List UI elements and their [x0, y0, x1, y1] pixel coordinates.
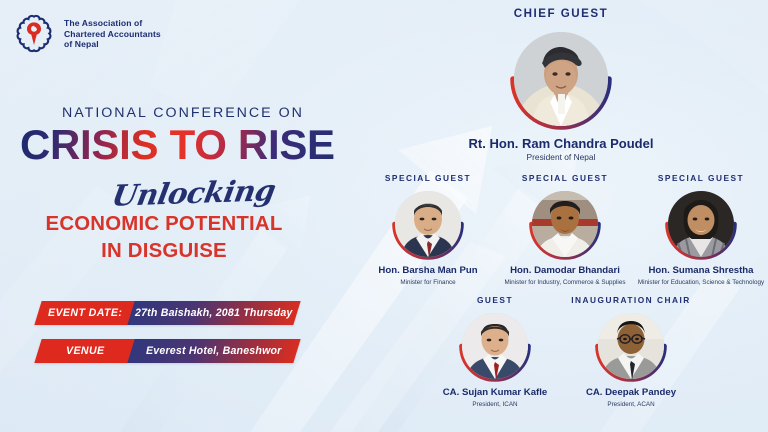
guest-card-guest: GUEST	[420, 296, 570, 408]
guest-photo-frame	[594, 309, 668, 383]
guest-role: SPECIAL GUEST	[626, 174, 768, 182]
guest-photo-frame	[664, 187, 738, 261]
guest-title: Minister for Education, Science & Techno…	[626, 279, 768, 286]
event-date-label: EVENT DATE:	[34, 301, 135, 325]
guest-card-special-2: SPECIAL GUEST	[490, 174, 640, 286]
guest-title: President of Nepal	[435, 153, 687, 163]
guest-role: GUEST	[420, 296, 570, 304]
ican-flower-logo-icon	[12, 12, 56, 56]
guest-role: CHIEF GUEST	[435, 8, 687, 20]
page-title: CRISIS TO RISE	[20, 122, 335, 167]
guest-photo-frame	[458, 309, 532, 383]
organization-name: The Association of Chartered Accountants…	[64, 18, 161, 50]
guest-photo-frame	[391, 187, 465, 261]
guest-photo	[395, 191, 461, 257]
guest-role: SPECIAL GUEST	[353, 174, 503, 182]
venue-value-text: Everest Hotel, Baneshwor	[146, 345, 282, 357]
guest-photo	[532, 191, 598, 257]
guest-photo	[598, 313, 664, 379]
event-date-value-text: 27th Baishakh, 2081 Thursday	[135, 307, 293, 319]
guest-role: INAUGURATION CHAIR	[556, 296, 706, 304]
conference-kicker: NATIONAL CONFERENCE ON	[62, 105, 304, 121]
guest-photo	[514, 32, 608, 126]
guest-card-chief: CHIEF GUEST	[435, 8, 687, 163]
venue-banner: VENUE Everest Hotel, Baneshwor	[38, 339, 297, 363]
left-content-column: The Association of Chartered Accountants…	[0, 0, 372, 432]
guest-title: Minister for Finance	[353, 279, 503, 286]
guest-photo	[462, 313, 528, 379]
venue-label-text: VENUE	[66, 345, 105, 357]
event-date-banner: EVENT DATE: 27th Baishakh, 2081 Thursday	[38, 301, 297, 325]
guest-name: Hon. Damodar Bhandari	[490, 266, 640, 277]
guest-name: CA. Sujan Kumar Kafle	[420, 388, 570, 399]
title-script-word: Unlocking	[109, 173, 278, 213]
guest-title: Minister for Industry, Commerce & Suppli…	[490, 279, 640, 286]
guest-photo-frame	[528, 187, 602, 261]
guest-name: Hon. Barsha Man Pun	[353, 266, 503, 277]
title-subtitle: ECONOMIC POTENTIAL IN DISGUISE	[34, 211, 294, 265]
organization-logo-block: The Association of Chartered Accountants…	[12, 12, 161, 56]
event-date-value: 27th Baishakh, 2081 Thursday	[127, 301, 300, 325]
guest-photo	[668, 191, 734, 257]
guest-card-special-1: SPECIAL GUEST	[353, 174, 503, 286]
guest-name: CA. Deepak Pandey	[556, 388, 706, 399]
event-date-label-text: EVENT DATE:	[48, 307, 122, 319]
guest-title: President, ICAN	[420, 401, 570, 408]
guests-section: CHIEF GUEST	[358, 0, 768, 432]
conference-poster: The Association of Chartered Accountants…	[0, 0, 768, 432]
guest-role: SPECIAL GUEST	[490, 174, 640, 182]
guest-card-inauguration-chair: INAUGURATION CHAIR	[556, 296, 706, 408]
guest-name: Rt. Hon. Ram Chandra Poudel	[435, 137, 687, 152]
guest-photo-frame	[509, 27, 613, 131]
venue-label: VENUE	[34, 339, 135, 363]
guest-title: President, ACAN	[556, 401, 706, 408]
venue-value: Everest Hotel, Baneshwor	[127, 339, 300, 363]
guest-card-special-3: SPECIAL GUEST	[626, 174, 768, 286]
guest-name: Hon. Sumana Shrestha	[626, 266, 768, 277]
